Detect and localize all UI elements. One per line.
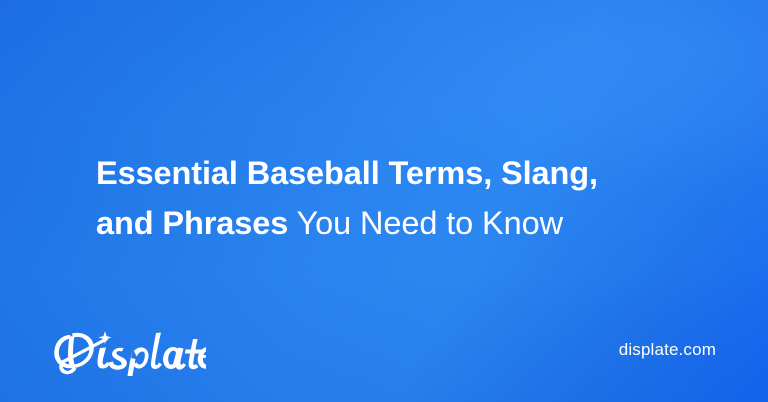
headline-line-1-bold: Essential Baseball Terms, Slang, [96,155,598,191]
displate-logo[interactable] [48,320,206,378]
site-domain: displate.com [619,340,716,360]
headline-line-2-bold: and Phrases [96,205,288,241]
headline-line-1: Essential Baseball Terms, Slang, [96,148,696,198]
headline-line-2-regular: You Need to Know [288,205,563,241]
banner-content: Essential Baseball Terms, Slang, and Phr… [0,0,768,402]
page-title: Essential Baseball Terms, Slang, and Phr… [96,148,696,248]
headline-line-2: and Phrases You Need to Know [96,198,696,248]
displate-wordmark-glyphs [54,331,206,376]
displate-social-banner: Essential Baseball Terms, Slang, and Phr… [0,0,768,402]
